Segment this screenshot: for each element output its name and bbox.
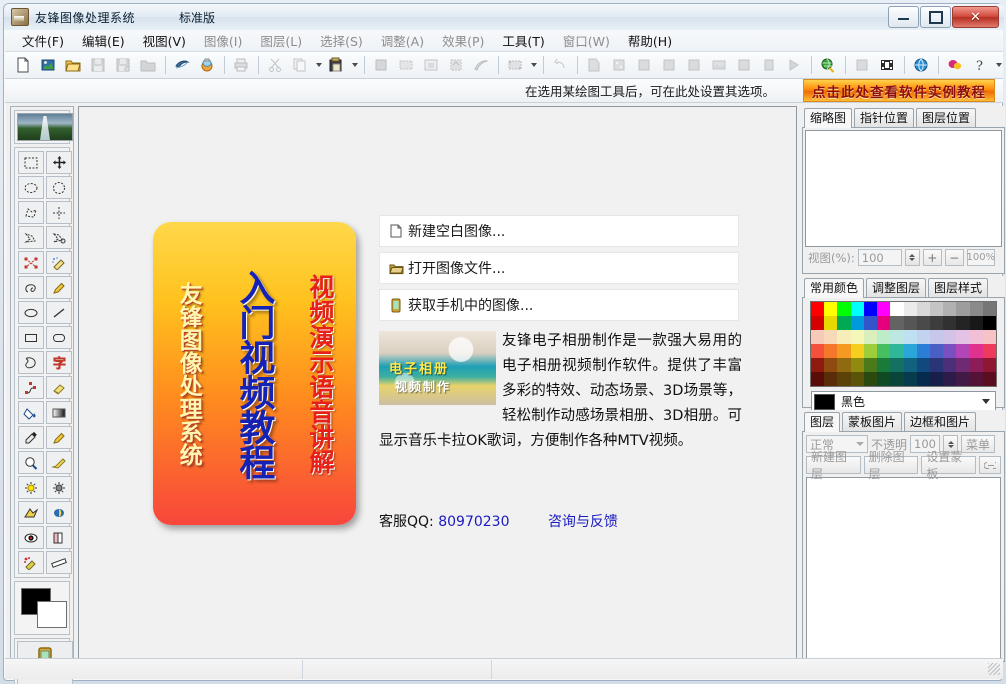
color-balance-tool[interactable] [46,526,72,549]
tab-layer-style[interactable]: 图层样式 [928,278,988,297]
color-swatch[interactable] [837,358,850,372]
menu-image[interactable]: 图像(I) [195,29,251,52]
support-qq-label: 客服QQ: [379,514,434,530]
color-swatch[interactable] [824,358,837,372]
color-swatch[interactable] [983,344,996,358]
gradient-tool[interactable] [46,401,72,424]
play-icon[interactable] [782,53,806,77]
undo-icon[interactable] [548,53,572,77]
link-icon[interactable] [979,456,1001,474]
product-description-block: 电子相册 视频制作 友锋电子相册制作是一款强大易用的电子相册视频制作软件。提供了… [379,329,742,454]
print-icon[interactable] [229,53,253,77]
rect-select-tool[interactable] [18,151,44,174]
ellipse-shape-tool[interactable] [18,301,44,324]
color-swatch[interactable] [970,358,983,372]
welcome-screen: 视频演示语音讲解 入门视频教程 友锋图像处理系统 新建空白图像... 打开图像文… [79,107,796,661]
color-swatch[interactable] [943,372,956,386]
color-swatch[interactable] [956,330,969,344]
color-swatch[interactable] [811,344,824,358]
background-color-swatch[interactable] [37,601,67,628]
effect3-icon[interactable] [632,53,656,77]
navigator-tabs: 缩略图 指针位置 图层位置 [802,106,1005,127]
canvas-size-icon[interactable] [419,53,443,77]
color-swatch[interactable] [851,358,864,372]
color-swatch[interactable] [983,316,996,330]
selected-color-name: 黑色 [841,393,865,410]
app-icon [11,8,29,26]
color-swatch[interactable] [811,302,824,316]
color-swatch[interactable] [970,316,983,330]
magic-wand-tool[interactable] [18,226,44,249]
support-qq-number[interactable]: 80970230 [438,514,509,530]
ellipse-select-tool[interactable] [18,176,44,199]
colors-body: 黑色 [802,297,1005,408]
color-swatch[interactable] [917,316,930,330]
color-swatch[interactable] [930,344,943,358]
help-icon[interactable]: ? [968,53,992,77]
tab-thumbnail[interactable]: 缩略图 [804,108,852,128]
color-swatch[interactable] [970,344,983,358]
restore-button[interactable] [920,6,951,28]
tab-layers[interactable]: 图层 [804,412,840,432]
color-swatch[interactable] [877,358,890,372]
save-as-icon[interactable] [111,53,135,77]
zoom-label: 视图(%): [808,250,855,266]
color-swatch-group [14,581,70,635]
color-swatch[interactable] [943,302,956,316]
chevron-down-icon[interactable] [982,399,990,404]
color-swatch[interactable] [917,344,930,358]
blur-tool[interactable] [46,501,72,524]
close-icon: ✕ [970,11,981,24]
color-swatch[interactable] [877,330,890,344]
new-document-icon [388,223,404,239]
color-swatch[interactable] [956,344,969,358]
zoom-fit-button[interactable]: 100% [967,249,995,266]
brightness-tool[interactable] [18,476,44,499]
new-blank-image-label: 新建空白图像... [408,221,505,241]
navigator-body: 视图(%): 100 + − 100% [802,127,1005,274]
color-swatch[interactable] [851,372,864,386]
layers-tabs: 图层 蒙板图片 边框和图片 [802,410,1005,431]
toolbar-separator [845,56,846,74]
color-swatch[interactable] [956,372,969,386]
open-folder-icon [388,260,404,276]
new-file-icon[interactable] [11,53,35,77]
resize-icon[interactable] [394,53,418,77]
poster-column-blue: 入门视频教程 [235,269,273,479]
color-swatch[interactable] [943,330,956,344]
tab-layer-position[interactable]: 图层位置 [916,108,976,127]
color-swatch[interactable] [930,358,943,372]
canvas-area: 视频演示语音讲解 入门视频教程 友锋图像处理系统 新建空白图像... 打开图像文… [78,106,797,662]
color-swatch[interactable] [943,316,956,330]
tutorial-promo-banner[interactable]: 点击此处查看软件实例教程 [803,79,995,102]
mobile-phone-icon [388,297,404,313]
set-mask-button[interactable]: 设置蒙板 [921,456,976,474]
lasso-tool[interactable] [18,276,44,299]
menu-view[interactable]: 视图(V) [134,29,195,52]
color-swatch[interactable] [930,316,943,330]
tab-mask-image[interactable]: 蒙板图片 [842,412,902,431]
tab-adjustment-layer[interactable]: 调整图层 [866,278,926,297]
navigator-thumbnail-view[interactable] [805,130,1002,247]
open-image-file-button[interactable]: 打开图像文件... [379,252,739,284]
status-cell-1 [5,660,303,679]
copy-dropdown-arrow[interactable] [313,54,324,76]
zoom-spinner[interactable] [905,249,920,266]
color-swatch[interactable] [904,344,917,358]
image-preview-thumbnail [17,113,73,141]
menu-tools[interactable]: 工具(T) [493,29,553,52]
flip-icon[interactable] [469,53,493,77]
color-swatch[interactable] [904,302,917,316]
navigator-panel: 缩略图 指针位置 图层位置 视图(%): 100 + − 100% [802,106,1005,274]
color-swatch[interactable] [904,358,917,372]
brush-tool[interactable] [46,426,72,449]
color-swatch[interactable] [904,330,917,344]
color-swatch[interactable] [890,344,903,358]
color-swatch[interactable] [943,344,956,358]
tools-group: 字 [14,147,70,578]
color-swatch[interactable] [917,330,930,344]
internet-icon[interactable] [909,53,933,77]
balloon-icon[interactable] [943,53,967,77]
camera-icon[interactable] [195,53,219,77]
color-swatch[interactable] [824,344,837,358]
open-folder-icon[interactable] [61,53,85,77]
polygon-select-tool[interactable] [18,201,44,224]
effect8-icon[interactable] [757,53,781,77]
select-dropdown-arrow[interactable] [528,54,539,76]
status-cell-3 [492,660,989,679]
zoom-input[interactable]: 100 [858,249,902,266]
cut-icon[interactable] [263,53,287,77]
eraser-tool[interactable] [46,376,72,399]
minimize-icon [898,15,909,20]
color-swatch[interactable] [837,316,850,330]
menu-file[interactable]: 文件(F) [13,29,73,52]
globe-search-icon[interactable] [816,53,840,77]
paint-bucket-tool[interactable] [18,401,44,424]
colors-panel: 常用颜色 调整图层 图层样式 黑色 [802,276,1005,408]
feedback-link[interactable]: 咨询与反馈 [548,514,618,530]
select-all-icon[interactable] [503,53,527,77]
thumbnail-line2: 视频制作 [395,375,451,400]
color-swatch[interactable] [983,302,996,316]
menu-window[interactable]: 窗口(W) [554,29,619,52]
poster-column-red: 视频演示语音讲解 [307,274,333,474]
color-swatch[interactable] [877,372,890,386]
close-button[interactable]: ✕ [952,6,999,28]
delete-layer-button[interactable]: 删除图层 [864,456,919,474]
get-phone-image-label: 获取手机中的图像... [408,295,533,315]
toolbar-separator [543,56,544,74]
zoom-tool[interactable] [18,451,44,474]
tab-pointer-position[interactable]: 指针位置 [854,108,914,127]
layers-panel: 图层 蒙板图片 边框和图片 正常 不透明 100 菜单 新建图层 删除图层 设置… [802,410,1005,662]
eyedropper-tool[interactable] [18,426,44,449]
curve-tool[interactable] [18,376,44,399]
color-swatch[interactable] [970,302,983,316]
effect6-icon[interactable] [707,53,731,77]
tab-border-and-image[interactable]: 边框和图片 [904,412,976,431]
toolbar-separator [811,56,812,74]
new-from-image-icon[interactable] [36,53,60,77]
circle-select-tool[interactable] [46,176,72,199]
clone-stamp-tool[interactable] [18,551,44,574]
menu-bar: 文件(F) 编辑(E) 视图(V) 图像(I) 图层(L) 选择(S) 调整(A… [5,30,1003,52]
support-line: 客服QQ: 80970230 咨询与反馈 [379,511,742,531]
color-swatch[interactable] [864,302,877,316]
highlighter-tool[interactable] [46,451,72,474]
svg-text:字: 字 [53,356,66,370]
menu-layer[interactable]: 图层(L) [251,29,311,52]
rotate-icon[interactable] [444,53,468,77]
color-swatch[interactable] [837,330,850,344]
color-swatch[interactable] [877,344,890,358]
tool-options-hint: 在选用某绘图工具后，可在此处设置其选项。 [525,81,775,100]
color-swatch[interactable] [983,330,996,344]
sharpen-tool[interactable] [18,501,44,524]
color-swatch[interactable] [811,316,824,330]
color-swatch[interactable] [837,302,850,316]
get-phone-image-button[interactable]: 获取手机中的图像... [379,289,739,321]
color-swatch[interactable] [956,302,969,316]
preview-group [14,110,70,144]
scanner-icon[interactable] [170,53,194,77]
zoom-out-button[interactable]: − [945,249,964,266]
tutorial-poster[interactable]: 视频演示语音讲解 入门视频教程 友锋图像处理系统 [153,222,356,525]
window-frame: 友锋图像处理系统 标准版 ✕ 文件(F) 编辑(E) 视图(V) 图像(I) 图… [3,3,1003,681]
paste-icon[interactable] [324,53,348,77]
contrast-tool[interactable] [46,476,72,499]
color-swatch[interactable] [824,372,837,386]
transform-nodes-tool[interactable] [18,251,44,274]
layers-list[interactable] [806,477,1001,659]
toolbar-separator [165,56,166,74]
color-swatch[interactable] [824,302,837,316]
color-swatch[interactable] [956,358,969,372]
color-swatch[interactable] [811,372,824,386]
restore-icon [929,11,943,24]
color-swatch[interactable] [851,330,864,344]
toolbar-separator [904,56,905,74]
open-image-file-label: 打开图像文件... [408,258,505,278]
main-toolbar: ? [5,52,1003,79]
toolbar-separator [224,56,225,74]
toolbar-separator [938,56,939,74]
chevron-down-icon [856,442,864,446]
menu-adjust[interactable]: 调整(A) [372,29,433,52]
color-swatch[interactable] [983,358,996,372]
color-swatch[interactable] [904,372,917,386]
tool-grid: 字 [17,150,73,575]
layer-buttons-row: 新建图层 删除图层 设置蒙板 [803,456,1004,477]
paste-dropdown-arrow[interactable] [349,54,360,76]
rounded-rect-tool[interactable] [46,326,72,349]
window-subtitle: 标准版 [179,9,215,26]
freeform-shape-tool[interactable] [18,351,44,374]
status-cell-2 [303,660,492,679]
open-recent-icon[interactable] [136,53,160,77]
film-icon[interactable] [875,53,899,77]
color-swatch[interactable] [943,358,956,372]
layers-body: 正常 不透明 100 菜单 新建图层 删除图层 设置蒙板 [802,431,1005,662]
selected-color-dropdown[interactable]: 黑色 [811,391,996,412]
application-window: 友锋图像处理系统 标准版 ✕ 文件(F) 编辑(E) 视图(V) 图像(I) 图… [0,0,1006,684]
line-tool[interactable] [46,301,72,324]
color-swatch[interactable] [917,372,930,386]
color-swatch[interactable] [930,330,943,344]
color-swatch[interactable] [824,316,837,330]
effect7-icon[interactable] [732,53,756,77]
color-swatch[interactable] [837,344,850,358]
menu-help[interactable]: 帮助(H) [619,29,681,52]
color-swatch[interactable] [930,302,943,316]
batch-icon[interactable] [850,53,874,77]
title-bar: 友锋图像处理系统 标准版 ✕ [4,4,1004,30]
magic-wand-plus-tool[interactable] [46,226,72,249]
zoom-in-button[interactable]: + [923,249,942,266]
color-swatch[interactable] [864,344,877,358]
navigator-zoom-controls: 视图(%): 100 + − 100% [805,247,1002,268]
minimize-button[interactable] [888,6,919,28]
window-controls: ✕ [888,6,999,28]
menu-select[interactable]: 选择(S) [311,29,372,52]
welcome-actions: 新建空白图像... 打开图像文件... 获取手机中的图像... [379,215,739,326]
color-swatch[interactable] [851,302,864,316]
toolbar-separator [258,56,259,74]
new-layer-button[interactable]: 新建图层 [806,456,861,474]
save-icon[interactable] [86,53,110,77]
toolbar-separator [364,56,365,74]
color-swatch[interactable] [864,358,877,372]
color-swatch[interactable] [864,330,877,344]
album-product-thumbnail[interactable]: 电子相册 视频制作 [379,331,496,405]
color-swatch[interactable] [890,316,903,330]
status-bar [5,658,1003,679]
color-palette-grid[interactable] [810,301,997,387]
color-swatch[interactable] [877,302,890,316]
color-swatch[interactable] [811,330,824,344]
color-swatch[interactable] [851,316,864,330]
new-blank-image-button[interactable]: 新建空白图像... [379,215,739,247]
effect4-icon[interactable] [657,53,681,77]
color-swatch[interactable] [890,302,903,316]
color-swatch[interactable] [970,330,983,344]
effect5-icon[interactable] [682,53,706,77]
crosshair-select-tool[interactable] [46,201,72,224]
color-swatch[interactable] [890,330,903,344]
help-dropdown-arrow[interactable] [993,54,1004,76]
copy-icon[interactable] [288,53,312,77]
toolbox-panel: 字 [10,106,74,662]
effect1-icon[interactable] [582,53,606,77]
color-swatch[interactable] [970,372,983,386]
text-tool[interactable]: 字 [46,351,72,374]
measure-tool[interactable] [46,551,72,574]
red-eye-tool[interactable] [18,526,44,549]
color-swatch[interactable] [956,316,969,330]
effect2-icon[interactable] [607,53,631,77]
color-swatch[interactable] [890,372,903,386]
color-swatches[interactable] [17,584,73,632]
pencil-tool[interactable] [46,276,72,299]
color-swatch[interactable] [930,372,943,386]
color-swatch[interactable] [864,316,877,330]
color-swatch[interactable] [864,372,877,386]
rectangle-shape-tool[interactable] [18,326,44,349]
color-swatch[interactable] [917,302,930,316]
color-swatch[interactable] [837,372,850,386]
tool-options-bar: 在选用某绘图工具后，可在此处设置其选项。 点击此处查看软件实例教程 [5,79,1003,103]
selected-color-chip [814,394,835,410]
toolbar-separator [577,56,578,74]
color-swatch[interactable] [851,344,864,358]
window-title: 友锋图像处理系统 [35,9,135,26]
resize-grip-icon[interactable] [988,663,1000,675]
color-swatch[interactable] [811,358,824,372]
color-swatch[interactable] [904,316,917,330]
color-swatch[interactable] [890,358,903,372]
svg-text:?: ? [976,59,983,73]
color-swatch[interactable] [824,330,837,344]
menu-effects[interactable]: 效果(P) [433,29,493,52]
move-tool[interactable] [46,151,72,174]
color-swatch[interactable] [877,316,890,330]
color-swatch[interactable] [917,358,930,372]
menu-edit[interactable]: 编辑(E) [73,29,134,52]
tab-common-colors[interactable]: 常用颜色 [804,278,864,298]
colors-tabs: 常用颜色 调整图层 图层样式 [802,276,1005,297]
crop-icon[interactable] [369,53,393,77]
toolbar-separator [498,56,499,74]
airbrush-tool[interactable] [46,251,72,274]
poster-column-yellow: 友锋图像处理系统 [176,282,200,466]
color-swatch[interactable] [983,372,996,386]
